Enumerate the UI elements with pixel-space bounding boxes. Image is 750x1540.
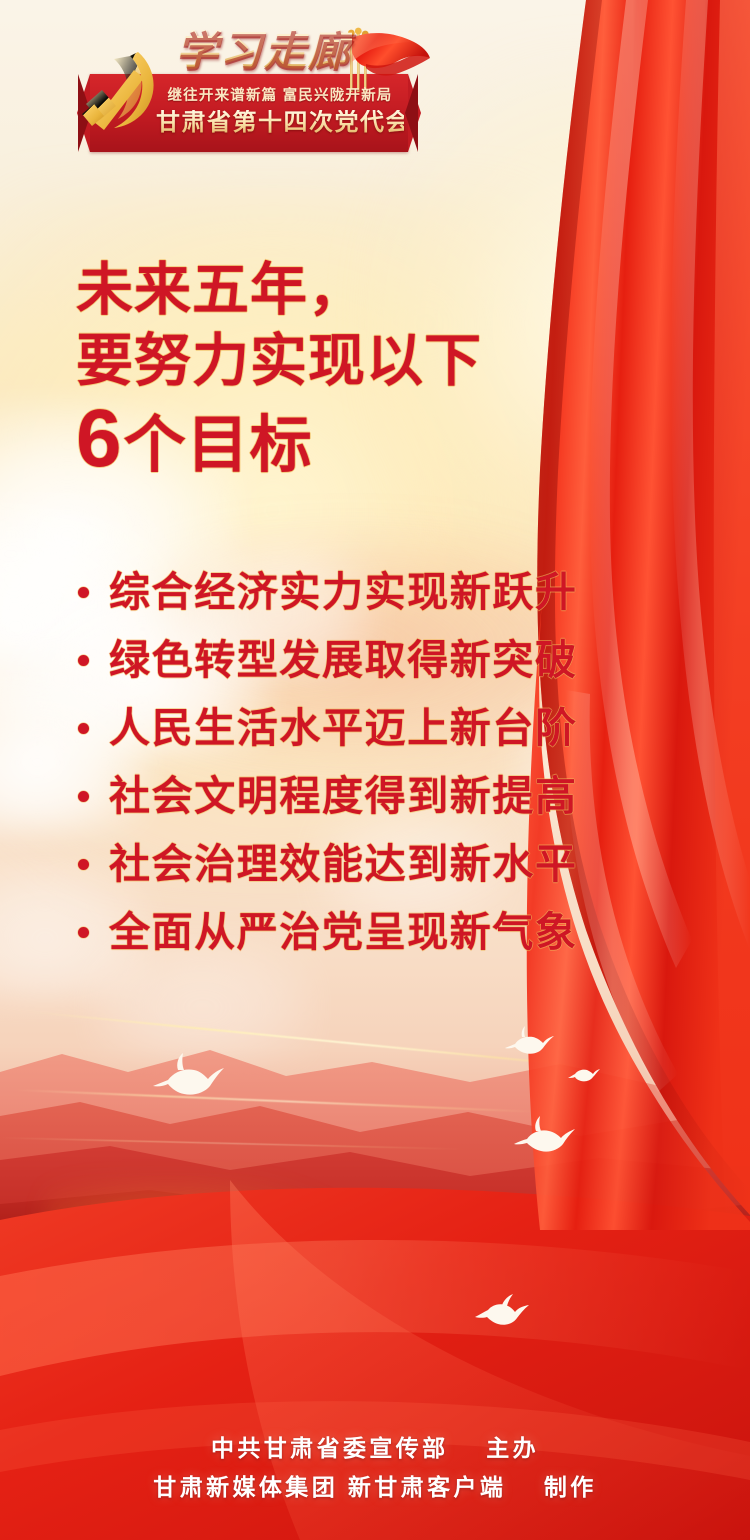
headline-line-2: 要努力实现以下 — [76, 329, 596, 394]
footer-credits: 中共甘肃省委宣传部 主办 甘肃新媒体集团 新甘肃客户端 制作 — [0, 1429, 750, 1508]
goal-item-label: 全面从严治党呈现新气象 — [109, 912, 578, 953]
footer-organizer-name: 中共甘肃省委宣传部 — [211, 1435, 449, 1461]
bullet-dot-icon — [78, 723, 89, 734]
goal-list: 综合经济实力实现新跃升 绿色转型发展取得新突破 人民生活水平迈上新台阶 社会文明… — [78, 558, 638, 966]
banner-subtitle: 继往开来谱新篇 富民兴陇开新局 — [164, 84, 396, 105]
bullet-dot-icon — [78, 791, 89, 802]
bullet-dot-icon — [78, 859, 89, 870]
goal-item-label: 社会文明程度得到新提高 — [109, 776, 578, 817]
goal-list-item: 社会治理效能达到新水平 — [78, 830, 638, 898]
goal-list-item: 社会文明程度得到新提高 — [78, 762, 638, 830]
goal-list-item: 人民生活水平迈上新台阶 — [78, 694, 638, 762]
headline-block: 未来五年， 要努力实现以下 6 个目标 — [76, 258, 596, 482]
goal-item-label: 社会治理效能达到新水平 — [109, 844, 578, 885]
goal-list-item: 绿色转型发展取得新突破 — [78, 626, 638, 694]
bullet-dot-icon — [78, 587, 89, 598]
banner-main-title: 甘肃省第十四次党代会 — [156, 110, 404, 135]
goal-item-label: 综合经济实力实现新跃升 — [109, 572, 578, 613]
poster-root: 学习走廊 继往开来谱新篇 富民兴陇开新局 甘肃省第十四次党代会 未来五年， 要努… — [0, 0, 750, 1540]
bullet-dot-icon — [78, 655, 89, 666]
header-banner: 学习走廊 继往开来谱新篇 富民兴陇开新局 甘肃省第十四次党代会 — [0, 22, 750, 162]
goal-list-item: 综合经济实力实现新跃升 — [78, 558, 638, 626]
footer-organizer-role: 主办 — [486, 1435, 539, 1461]
footer-producer-name: 甘肃新媒体集团 新甘肃客户端 — [153, 1474, 506, 1500]
footer-line-1: 中共甘肃省委宣传部 主办 — [0, 1429, 750, 1469]
headline-goal-count: 6 — [76, 402, 122, 476]
goal-item-label: 人民生活水平迈上新台阶 — [109, 708, 578, 749]
footer-line-2: 甘肃新媒体集团 新甘肃客户端 制作 — [0, 1468, 750, 1508]
banner-calligraphy-title: 学习走廊 — [176, 30, 352, 72]
headline-goal-suffix: 个目标 — [124, 411, 313, 482]
goal-list-item: 全面从严治党呈现新气象 — [78, 898, 638, 966]
headline-line-3: 6 个目标 — [76, 402, 596, 482]
headline-line-1: 未来五年， — [76, 258, 596, 323]
golden-sunray — [75, 1238, 525, 1241]
goal-item-label: 绿色转型发展取得新突破 — [109, 640, 578, 681]
footer-producer-role: 制作 — [544, 1474, 597, 1500]
party-hammer-sickle-icon — [78, 44, 166, 140]
bullet-dot-icon — [78, 927, 89, 938]
